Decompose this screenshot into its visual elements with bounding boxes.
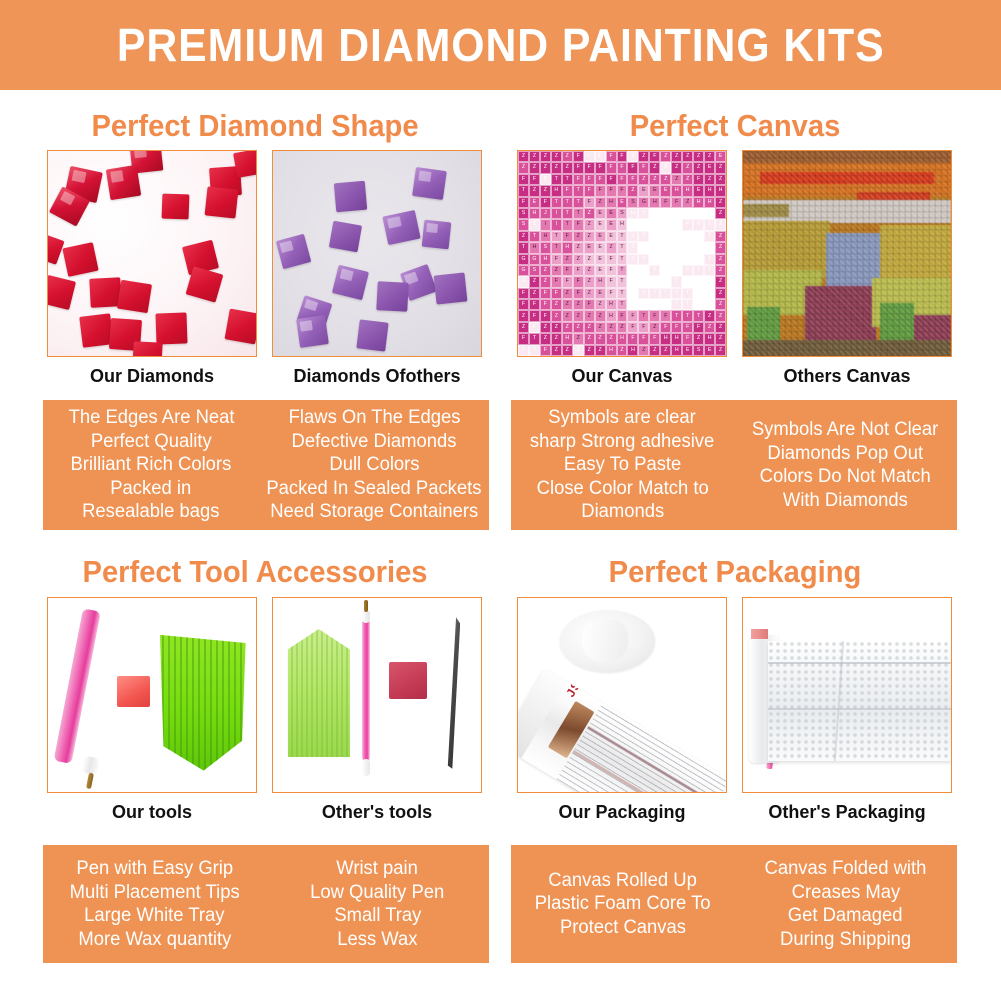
page-header: PREMIUM DIAMOND PAINTING KITS bbox=[0, 0, 1001, 90]
canvas-cell: Z bbox=[660, 345, 671, 356]
canvas-cell: F bbox=[540, 310, 551, 321]
canvas-cell: F bbox=[638, 162, 649, 173]
canvas-cell: F bbox=[606, 288, 617, 299]
canvas-cell: F bbox=[562, 276, 573, 287]
canvas-cell: Z bbox=[573, 333, 584, 344]
canvas-symbol-grid: ZZZZZFFFFFZZFZZZZZEZZZZZFFFFFFFZZZZZEZFF… bbox=[518, 151, 726, 356]
panel-line: Need Storage Containers bbox=[270, 500, 478, 524]
thin-pen-barrel bbox=[362, 619, 369, 761]
canvas-cell: T bbox=[649, 254, 660, 265]
canvas-cell: Z bbox=[682, 197, 693, 208]
canvas-cell: F bbox=[529, 299, 540, 310]
canvas-cell: T bbox=[518, 242, 529, 253]
canvas-cell: F bbox=[562, 265, 573, 276]
canvas-cell: T bbox=[682, 276, 693, 287]
panel-line: The Edges Are Neat bbox=[68, 406, 234, 430]
canvas-cell: Z bbox=[518, 310, 529, 321]
canvas-cell: T bbox=[638, 231, 649, 242]
canvas-cell: H bbox=[617, 333, 628, 344]
canvas-cell: E bbox=[529, 197, 540, 208]
canvas-color-blocks bbox=[743, 151, 951, 356]
canvas-cell: F bbox=[595, 162, 606, 173]
section-title-tool-accessories: Perfect Tool Accessories bbox=[44, 554, 467, 590]
panel-line: More Wax quantity bbox=[78, 928, 231, 952]
canvas-cell: Z bbox=[551, 345, 562, 356]
canvas-cell: F bbox=[693, 231, 704, 242]
canvas-cell: H bbox=[606, 299, 617, 310]
canvas-cell: T bbox=[704, 276, 715, 287]
canvas-cell: F bbox=[660, 322, 671, 333]
canvas-cell: Z bbox=[660, 174, 671, 185]
canvas-cell: I bbox=[551, 219, 562, 230]
canvas-cell: H bbox=[671, 333, 682, 344]
canvas-cell: E bbox=[595, 288, 606, 299]
panel-line: Get Damaged bbox=[788, 904, 903, 928]
canvas-cell: J bbox=[660, 208, 671, 219]
card-image-our-tools bbox=[47, 597, 257, 793]
canvas-cell: F bbox=[638, 322, 649, 333]
canvas-cell: E bbox=[715, 151, 726, 162]
thin-pen-metal-tip bbox=[364, 600, 369, 612]
canvas-cell: Z bbox=[529, 151, 540, 162]
panel-col-other-diamonds: Flaws On The EdgesDefective DiamondsDull… bbox=[259, 400, 489, 530]
canvas-cell: F bbox=[573, 162, 584, 173]
canvas-cell: F bbox=[518, 197, 529, 208]
canvas-cell: G bbox=[518, 254, 529, 265]
canvas-cell: F bbox=[606, 185, 617, 196]
canvas-cell: Y bbox=[660, 219, 671, 230]
canvas-cell: Z bbox=[584, 322, 595, 333]
panel-line: Dull Colors bbox=[329, 453, 419, 477]
canvas-cell: H bbox=[540, 231, 551, 242]
canvas-cell: F bbox=[682, 265, 693, 276]
canvas-cell: Z bbox=[606, 322, 617, 333]
canvas-cell: H bbox=[627, 208, 638, 219]
canvas-cell: Z bbox=[704, 151, 715, 162]
canvas-cell: F bbox=[551, 254, 562, 265]
canvas-cell: Z bbox=[573, 345, 584, 356]
panel-diamond-shape: The Edges Are NeatPerfect QualityBrillia… bbox=[43, 400, 489, 530]
panel-line: Packed in bbox=[111, 477, 192, 501]
card-image-our-canvas: ZZZZZFFFFFZZFZZZZZEZZZZZFFFFFFFZZZZZEZFF… bbox=[517, 150, 727, 357]
panel-line: Canvas Folded with bbox=[765, 857, 927, 881]
canvas-cell: T bbox=[562, 197, 573, 208]
canvas-cell: F bbox=[529, 174, 540, 185]
panel-line: Symbols Are Not Clear bbox=[752, 418, 938, 442]
canvas-cell: E bbox=[704, 345, 715, 356]
canvas-cell: Z bbox=[671, 174, 682, 185]
caption-our-tools: Our tools bbox=[47, 802, 257, 823]
canvas-cell: Z bbox=[715, 219, 726, 230]
canvas-cell: E bbox=[682, 345, 693, 356]
canvas-cell: F bbox=[617, 310, 628, 321]
canvas-cell: J bbox=[638, 242, 649, 253]
canvas-cell: Z bbox=[584, 276, 595, 287]
canvas-cell: F bbox=[627, 310, 638, 321]
wax-square bbox=[117, 676, 150, 707]
canvas-cell: H bbox=[671, 185, 682, 196]
canvas-cell: H bbox=[562, 333, 573, 344]
canvas-cell: F bbox=[627, 162, 638, 173]
thin-pen-cap-bottom bbox=[362, 759, 371, 776]
canvas-cell: T bbox=[627, 299, 638, 310]
caption-our-canvas: Our Canvas bbox=[517, 366, 727, 387]
tube-label-text: JS-011 bbox=[564, 668, 599, 699]
canvas-cell: F bbox=[649, 333, 660, 344]
canvas-cell: H bbox=[704, 185, 715, 196]
canvas-cell: J bbox=[660, 231, 671, 242]
canvas-cell: T bbox=[649, 299, 660, 310]
canvas-cell: T bbox=[617, 231, 628, 242]
red-square-diamonds-photo bbox=[48, 151, 256, 356]
panel-col-others-canvas: Symbols Are Not ClearDiamonds Pop OutCol… bbox=[734, 400, 957, 530]
mailer-seam-2 bbox=[768, 708, 951, 710]
canvas-cell: Z bbox=[551, 322, 562, 333]
canvas-cell: Z bbox=[518, 322, 529, 333]
canvas-cell: Z bbox=[627, 151, 638, 162]
canvas-cell: T bbox=[671, 242, 682, 253]
canvas-cell: T bbox=[704, 254, 715, 265]
canvas-cell: E bbox=[660, 185, 671, 196]
panel-line: Resealable bags bbox=[82, 500, 219, 524]
canvas-cell: Z bbox=[551, 162, 562, 173]
canvas-cell: T bbox=[660, 288, 671, 299]
canvas-cell: T bbox=[693, 310, 704, 321]
canvas-cell: T bbox=[660, 299, 671, 310]
panel-line: Diamonds bbox=[581, 500, 664, 524]
canvas-cell: T bbox=[617, 276, 628, 287]
white-bubble-mailer-envelope-photo bbox=[743, 598, 951, 792]
canvas-cell: F bbox=[617, 151, 628, 162]
canvas-cell: Z bbox=[704, 322, 715, 333]
tube-cap-knob bbox=[582, 619, 628, 662]
canvas-cell: T bbox=[638, 265, 649, 276]
canvas-cell: E bbox=[595, 265, 606, 276]
caption-other-tools: Other's tools bbox=[272, 802, 482, 823]
canvas-cell: T bbox=[704, 231, 715, 242]
canvas-cell: F bbox=[540, 299, 551, 310]
canvas-cell: F bbox=[551, 276, 562, 287]
canvas-cell: T bbox=[638, 299, 649, 310]
canvas-cell: F bbox=[529, 322, 540, 333]
canvas-cell: Z bbox=[715, 276, 726, 287]
canvas-cell: H bbox=[529, 242, 540, 253]
canvas-cell: Z bbox=[529, 185, 540, 196]
canvas-cell: Z bbox=[573, 242, 584, 253]
canvas-cell: F bbox=[606, 276, 617, 287]
canvas-cell: Z bbox=[595, 299, 606, 310]
canvas-cell: F bbox=[627, 174, 638, 185]
canvas-cell: Z bbox=[529, 276, 540, 287]
canvas-cell: Z bbox=[682, 151, 693, 162]
canvas-cell: T bbox=[671, 310, 682, 321]
panel-canvas: Symbols are clearsharp Strong adhesiveEa… bbox=[511, 400, 957, 530]
panel-line: With Diamonds bbox=[783, 489, 908, 513]
canvas-cell: H bbox=[682, 185, 693, 196]
canvas-cell: F bbox=[671, 322, 682, 333]
canvas-cell: G bbox=[518, 265, 529, 276]
canvas-cell: E bbox=[617, 197, 628, 208]
panel-line: Canvas Rolled Up bbox=[548, 869, 697, 893]
canvas-cell: H bbox=[660, 333, 671, 344]
canvas-cell: T bbox=[627, 276, 638, 287]
canvas-cell: F bbox=[595, 185, 606, 196]
canvas-cell: E bbox=[606, 231, 617, 242]
thin-pen-collar-top bbox=[362, 610, 371, 624]
canvas-cell: E bbox=[584, 242, 595, 253]
canvas-cell: T bbox=[671, 265, 682, 276]
canvas-cell: T bbox=[671, 208, 682, 219]
canvas-cell: S bbox=[518, 219, 529, 230]
canvas-cell: H bbox=[551, 185, 562, 196]
canvas-cell: I bbox=[627, 219, 638, 230]
tweezers bbox=[441, 617, 460, 768]
canvas-cell: T bbox=[518, 185, 529, 196]
panel-line: Creases May bbox=[791, 881, 900, 905]
canvas-cell: F bbox=[529, 310, 540, 321]
purple-square-diamonds-photo bbox=[273, 151, 481, 356]
canvas-cell: T bbox=[693, 254, 704, 265]
canvas-cell: J bbox=[638, 219, 649, 230]
infographic-page: PREMIUM DIAMOND PAINTING KITS Perfect Di… bbox=[0, 0, 1001, 1001]
canvas-cell: Z bbox=[715, 345, 726, 356]
small-green-tray-pen-wax-tweezers-photo bbox=[273, 598, 481, 792]
canvas-cell: E bbox=[693, 185, 704, 196]
panel-line: Plastic Foam Core To bbox=[535, 892, 711, 916]
canvas-cell: Z bbox=[715, 299, 726, 310]
panel-line: Diamonds Pop Out bbox=[768, 442, 924, 466]
canvas-cell: Z bbox=[649, 162, 660, 173]
canvas-cell: G bbox=[638, 197, 649, 208]
canvas-cell: F bbox=[693, 174, 704, 185]
canvas-cell: F bbox=[617, 185, 628, 196]
canvas-cell: H bbox=[693, 208, 704, 219]
canvas-cell: T bbox=[704, 219, 715, 230]
canvas-cell: T bbox=[693, 276, 704, 287]
panel-col-other-packaging: Canvas Folded withCreases MayGet Damaged… bbox=[734, 845, 957, 963]
canvas-cell: F bbox=[617, 174, 628, 185]
section-title-canvas: Perfect Canvas bbox=[524, 108, 947, 144]
canvas-cell: F bbox=[649, 310, 660, 321]
canvas-cell: Z bbox=[551, 310, 562, 321]
canvas-cell: E bbox=[595, 219, 606, 230]
canvas-cell: F bbox=[562, 185, 573, 196]
canvas-cell: T bbox=[649, 276, 660, 287]
canvas-cell: E bbox=[704, 162, 715, 173]
pink-pen-wax-large-green-tray-photo bbox=[48, 598, 256, 792]
canvas-cell: T bbox=[617, 265, 628, 276]
canvas-cell: T bbox=[573, 185, 584, 196]
canvas-cell: F bbox=[573, 288, 584, 299]
canvas-cell: F bbox=[682, 322, 693, 333]
panel-line: During Shipping bbox=[780, 928, 911, 952]
canvas-cell: Z bbox=[573, 231, 584, 242]
canvas-cell: H bbox=[671, 345, 682, 356]
canvas-cell: Z bbox=[715, 208, 726, 219]
canvas-cell: S bbox=[617, 208, 628, 219]
blurry-multicolor-canvas-photo bbox=[743, 151, 951, 356]
card-image-our-diamonds bbox=[47, 150, 257, 357]
canvas-cell: E bbox=[606, 208, 617, 219]
canvas-cell: T bbox=[649, 288, 660, 299]
canvas-cell: Z bbox=[551, 265, 562, 276]
canvas-cell: Z bbox=[660, 162, 671, 173]
canvas-cell: T bbox=[649, 265, 660, 276]
canvas-cell: Z bbox=[584, 310, 595, 321]
canvas-cell: Z bbox=[715, 162, 726, 173]
canvas-cell: Y bbox=[660, 254, 671, 265]
caption-our-packaging: Our Packaging bbox=[517, 802, 727, 823]
card-image-other-diamonds bbox=[272, 150, 482, 357]
canvas-cell: Z bbox=[518, 151, 529, 162]
panel-col-our-packaging: Canvas Rolled UpPlastic Foam Core ToProt… bbox=[511, 845, 734, 963]
canvas-cell: F bbox=[573, 276, 584, 287]
panel-line: Flaws On The Edges bbox=[288, 406, 460, 430]
canvas-cell: H bbox=[682, 254, 693, 265]
canvas-cell: E bbox=[649, 185, 660, 196]
canvas-cell: Z bbox=[715, 265, 726, 276]
canvas-cell: X bbox=[529, 219, 540, 230]
canvas-cell: H bbox=[617, 219, 628, 230]
canvas-cell: J bbox=[649, 242, 660, 253]
canvas-cell: F bbox=[627, 322, 638, 333]
canvas-cell: F bbox=[606, 174, 617, 185]
canvas-cell: T bbox=[704, 242, 715, 253]
canvas-cell: Z bbox=[540, 151, 551, 162]
canvas-cell: F bbox=[617, 162, 628, 173]
canvas-cell: Z bbox=[671, 151, 682, 162]
canvas-cell: Z bbox=[540, 322, 551, 333]
canvas-cell: F bbox=[584, 162, 595, 173]
canvas-cell: Z bbox=[671, 162, 682, 173]
canvas-cell: E bbox=[606, 219, 617, 230]
canvas-cell: Z bbox=[584, 345, 595, 356]
pink-symbol-grid-canvas-photo: ZZZZZFFFFFZZFZZZZZEZZZZZFFFFFFFZZZZZEZFF… bbox=[518, 151, 726, 356]
canvas-cell: S bbox=[529, 265, 540, 276]
mailer-seam-1 bbox=[768, 662, 951, 664]
wax-square-small bbox=[389, 662, 426, 699]
panel-line: Symbols are clear bbox=[549, 406, 697, 430]
canvas-cell: Z bbox=[649, 322, 660, 333]
caption-others-canvas: Others Canvas bbox=[742, 366, 952, 387]
canvas-cell: F bbox=[584, 299, 595, 310]
canvas-cell: F bbox=[573, 219, 584, 230]
canvas-cell: Z bbox=[638, 345, 649, 356]
canvas-cell: Z bbox=[573, 322, 584, 333]
canvas-cell: Z bbox=[715, 242, 726, 253]
canvas-cell: F bbox=[573, 151, 584, 162]
diamond-tray bbox=[158, 635, 245, 771]
panel-line: Multi Placement Tips bbox=[69, 881, 239, 905]
canvas-cell: T bbox=[671, 231, 682, 242]
canvas-cell: T bbox=[682, 299, 693, 310]
panel-col-our-canvas: Symbols are clearsharp Strong adhesiveEa… bbox=[511, 400, 734, 530]
canvas-cell: F bbox=[682, 208, 693, 219]
canvas-cell: F bbox=[584, 197, 595, 208]
canvas-cell: T bbox=[627, 254, 638, 265]
canvas-cell: Z bbox=[584, 265, 595, 276]
canvas-cell: Z bbox=[584, 208, 595, 219]
panel-line: Close Color Match to bbox=[536, 477, 708, 501]
canvas-cell: Z bbox=[617, 345, 628, 356]
panel-line: sharp Strong adhesive bbox=[530, 430, 714, 454]
canvas-cell: Z bbox=[715, 174, 726, 185]
canvas-cell: Z bbox=[704, 174, 715, 185]
canvas-cell: F bbox=[540, 174, 551, 185]
pen-metal-tip bbox=[86, 772, 94, 788]
canvas-cell: H bbox=[704, 333, 715, 344]
section-title-packaging: Perfect Packaging bbox=[524, 554, 947, 590]
canvas-cell: H bbox=[627, 345, 638, 356]
small-tray-ribs bbox=[288, 629, 350, 757]
canvas-cell: F bbox=[562, 231, 573, 242]
canvas-cell: T bbox=[671, 299, 682, 310]
page-title: PREMIUM DIAMOND PAINTING KITS bbox=[117, 18, 885, 72]
canvas-cell: H bbox=[649, 197, 660, 208]
canvas-cell: F bbox=[584, 185, 595, 196]
canvas-cell: T bbox=[562, 208, 573, 219]
canvas-cell: Z bbox=[638, 151, 649, 162]
caption-our-diamonds: Our Diamonds bbox=[47, 366, 257, 387]
canvas-cell: T bbox=[638, 288, 649, 299]
canvas-cell: Z bbox=[584, 231, 595, 242]
canvas-cell: I bbox=[649, 208, 660, 219]
canvas-cell: Z bbox=[682, 242, 693, 253]
canvas-cell: Z bbox=[693, 151, 704, 162]
canvas-cell: F bbox=[573, 174, 584, 185]
canvas-cell: S bbox=[693, 345, 704, 356]
canvas-cell: Z bbox=[562, 254, 573, 265]
canvas-cell: Z bbox=[715, 288, 726, 299]
canvas-cell: F bbox=[540, 345, 551, 356]
canvas-cell: E bbox=[595, 231, 606, 242]
canvas-cell: Z bbox=[682, 174, 693, 185]
canvas-cell: E bbox=[638, 185, 649, 196]
canvas-cell: Z bbox=[595, 197, 606, 208]
canvas-cell: T bbox=[529, 333, 540, 344]
panel-line: Packed In Sealed Packets bbox=[267, 477, 482, 501]
canvas-cell: F bbox=[540, 197, 551, 208]
canvas-cell: F bbox=[693, 299, 704, 310]
canvas-cell: T bbox=[671, 288, 682, 299]
panel-line: Protect Canvas bbox=[559, 916, 685, 940]
panel-line: Small Tray bbox=[334, 904, 421, 928]
canvas-cell: F bbox=[606, 265, 617, 276]
canvas-cell: Z bbox=[518, 162, 529, 173]
canvas-cell: Z bbox=[715, 322, 726, 333]
small-diamond-tray bbox=[288, 629, 350, 757]
canvas-cell: E bbox=[595, 242, 606, 253]
canvas-cell: J bbox=[540, 208, 551, 219]
canvas-cell: Z bbox=[551, 151, 562, 162]
canvas-cell: F bbox=[638, 333, 649, 344]
canvas-cell: Z bbox=[529, 162, 540, 173]
canvas-cell: F bbox=[606, 254, 617, 265]
canvas-cell: J bbox=[627, 231, 638, 242]
canvas-cell: Z bbox=[573, 310, 584, 321]
canvas-cell: T bbox=[671, 276, 682, 287]
canvas-cell: T bbox=[660, 265, 671, 276]
panel-line: Wrist pain bbox=[337, 857, 419, 881]
card-image-other-tools bbox=[272, 597, 482, 793]
canvas-cell: T bbox=[682, 310, 693, 321]
canvas-cell: Z bbox=[682, 231, 693, 242]
canvas-cell: F bbox=[551, 288, 562, 299]
canvas-cell: T bbox=[660, 276, 671, 287]
canvas-cell: T bbox=[693, 242, 704, 253]
canvas-cell: F bbox=[518, 174, 529, 185]
canvas-cell: T bbox=[704, 299, 715, 310]
